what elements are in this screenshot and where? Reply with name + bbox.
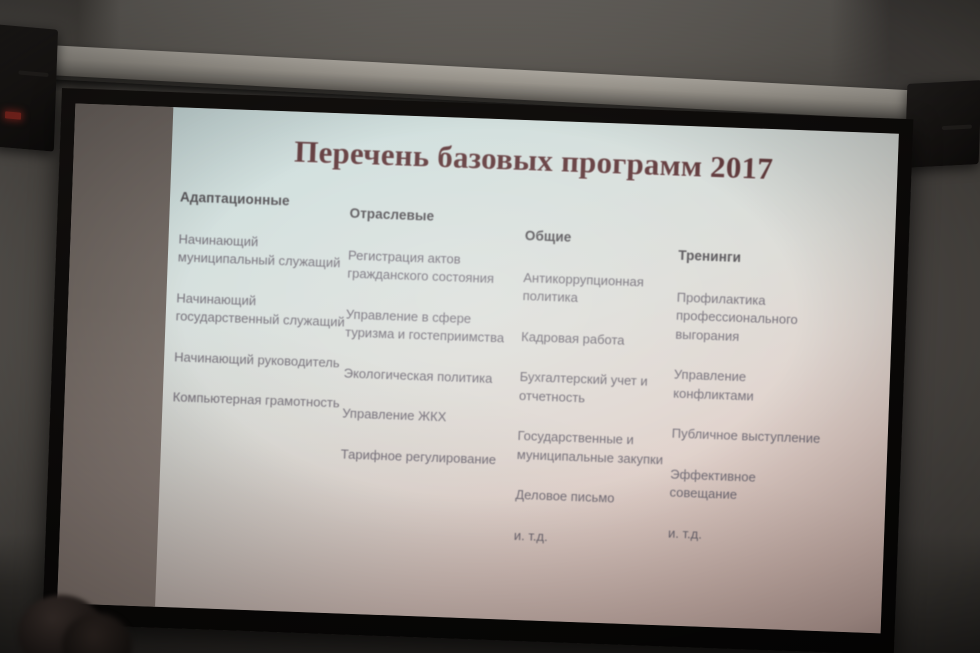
program-item: Начинающий муниципальный служащий	[178, 230, 351, 273]
wall-speaker-left	[0, 24, 58, 151]
program-item: Деловое письмо	[515, 486, 678, 510]
column-header: Общие	[525, 228, 687, 249]
program-item: Управление в сфере туризма и гостеприимс…	[345, 305, 514, 348]
program-item-etc: и. т.д.	[668, 524, 819, 548]
program-item: Бухгалтерский учет и отчетность	[519, 368, 682, 411]
slide-columns: Адаптационные Начинающий муниципальный с…	[153, 189, 896, 633]
column-header: Адаптационные	[180, 189, 352, 210]
program-item: Кадровая работа	[521, 328, 684, 352]
column-header: Тренинги	[678, 248, 828, 268]
speaker-vent	[18, 70, 48, 77]
column-adaptatsionnye: Адаптационные Начинающий муниципальный с…	[172, 189, 352, 413]
column-header: Отраслевые	[349, 206, 517, 227]
wall-speaker-right	[904, 80, 980, 168]
program-item: Начинающий руководитель	[174, 348, 347, 373]
column-treningi: Тренинги Профилактика профессионального …	[668, 248, 829, 548]
program-item: Управление конфликтами	[673, 366, 824, 408]
program-item: Управление ЖКХ	[342, 405, 511, 430]
power-led-icon	[5, 111, 21, 119]
conference-room-photo: Перечень базовых программ 2017 Адаптацио…	[0, 0, 980, 653]
program-item: Регистрация актов гражданского состояния	[347, 247, 516, 290]
program-item-etc: и. т.д.	[514, 526, 677, 550]
speaker-vent	[942, 124, 972, 130]
program-item: Антикоррупционная политика	[522, 269, 685, 312]
slide-title: Перечень базовых программ 2017	[169, 129, 898, 192]
screen-unlit-margin	[57, 104, 173, 607]
program-item: Публичное выступление	[671, 425, 822, 449]
projection-screen-frame: Перечень базовых программ 2017 Адаптацио…	[42, 88, 913, 653]
program-item: Экологическая политика	[343, 364, 512, 389]
program-item: Профилактика профессионального выгорания	[675, 289, 827, 350]
program-item: Тарифное регулирование	[340, 445, 509, 470]
program-item: Эффективное совещание	[669, 465, 820, 507]
program-item: Начинающий государственный служащий	[175, 289, 348, 332]
column-otraslevye: Отраслевые Регистрация актов гражданског…	[340, 206, 517, 470]
program-item: Государственные и муниципальные закупки	[517, 427, 680, 470]
projection-screen-surface: Перечень базовых программ 2017 Адаптацио…	[57, 104, 899, 634]
program-item: Компьютерная грамотность	[172, 389, 345, 414]
presentation-slide: Перечень базовых программ 2017 Адаптацио…	[153, 107, 899, 633]
column-obshchie: Общие Антикоррупционная политика Кадрова…	[514, 228, 688, 551]
